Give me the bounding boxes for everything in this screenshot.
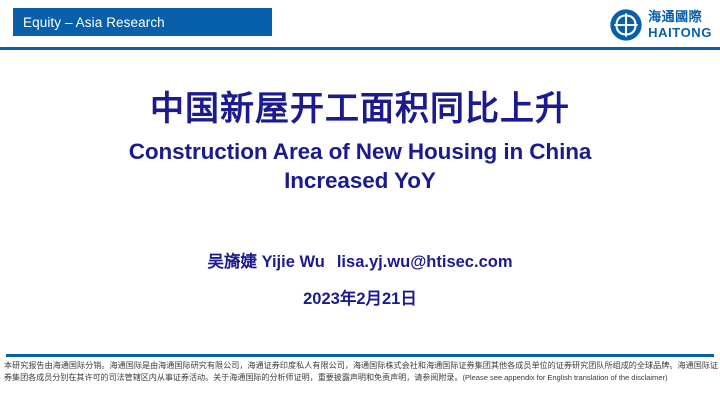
- page-title-english-line1: Construction Area of New Housing in Chin…: [0, 137, 720, 167]
- logo-name-cn: 海通國際: [648, 11, 712, 24]
- footer-disclaimer: 本研究报告由海通国际分销。海通国际是由海通国际研究有限公司，海通证券印度私人有限…: [4, 360, 718, 384]
- footer-disclaimer-english: (Please see appendix for English transla…: [463, 373, 668, 382]
- haitong-circle-logo-icon: [609, 8, 643, 42]
- author-email[interactable]: lisa.yj.wu@htisec.com: [337, 253, 513, 271]
- slide-cover: Equity – Asia Research 海通國際 HAITONG 中国新屋…: [0, 0, 720, 405]
- footer-divider: [6, 354, 714, 357]
- logo-name-en: HAITONG: [648, 26, 712, 39]
- logo-wordmark: 海通國際 HAITONG: [648, 11, 712, 39]
- header-category-label: Equity – Asia Research: [23, 15, 165, 30]
- author-byline: 吴旖婕 Yijie Wulisa.yj.wu@htisec.com: [0, 248, 720, 272]
- author-name-chinese: 吴旖婕: [207, 252, 257, 271]
- page-title-english-line2: Increased YoY: [0, 166, 720, 196]
- header-divider: [0, 47, 720, 50]
- publication-date: 2023年2月21日: [0, 285, 720, 309]
- header-category-bar: Equity – Asia Research: [13, 8, 272, 36]
- page-title-chinese: 中国新屋开工面积同比上升: [0, 88, 720, 131]
- author-name-english: Yijie Wu: [262, 253, 325, 271]
- title-block: 中国新屋开工面积同比上升 Construction Area of New Ho…: [0, 88, 720, 196]
- haitong-logo: 海通國際 HAITONG: [609, 6, 712, 44]
- page-title-english: Construction Area of New Housing in Chin…: [0, 137, 720, 196]
